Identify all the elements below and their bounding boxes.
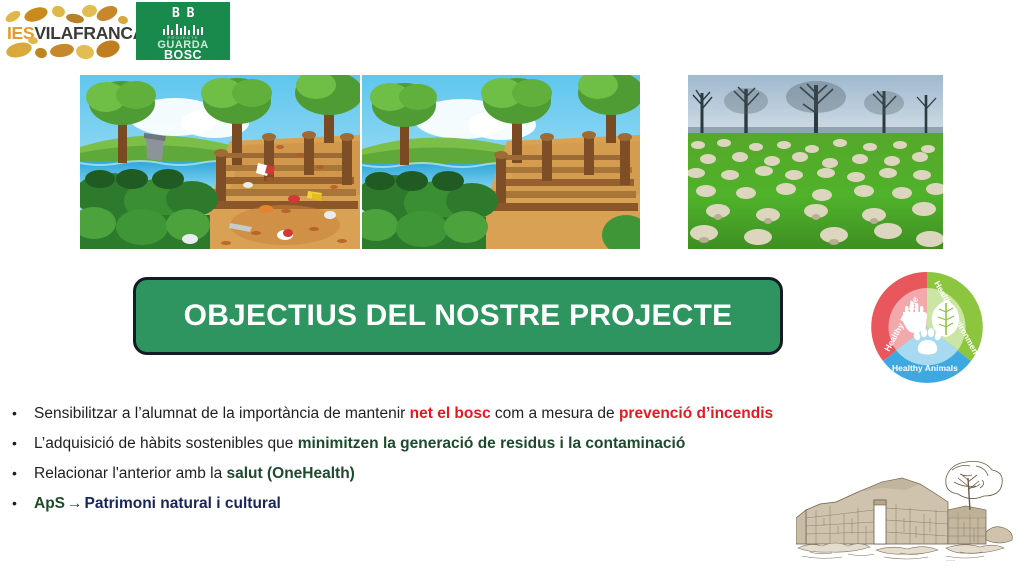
arrow-icon: →	[65, 495, 85, 512]
ies-logo-name: VILAFRANCA	[34, 23, 145, 43]
logo-seed-decoration	[23, 5, 50, 25]
page-title: OBJECTIUS DEL NOSTRE PROJECTE	[184, 299, 733, 333]
bullet-text: Relacionar l'anterior amb la salut (OneH…	[34, 459, 355, 489]
bullet-segment-highlight: salut (OneHealth)	[227, 465, 355, 482]
slide-title-banner: OBJECTIUS DEL NOSTRE PROJECTE	[133, 277, 783, 355]
bullet-segment: L’adquisició de hàbits sostenibles que	[34, 435, 298, 452]
list-item: • Sensibilitzar a l’alumnat de la import…	[12, 398, 842, 428]
bullet-marker: •	[12, 428, 34, 458]
bullet-segment: com a mesura de	[491, 405, 619, 422]
bullet-segment-highlight: minimitzen la generació de residus i la …	[298, 435, 686, 452]
logo-seed-decoration	[34, 46, 49, 59]
logo-seed-decoration	[49, 42, 75, 58]
bullet-segment-highlight: prevenció d’incendis	[619, 405, 773, 422]
bullet-segment-highlight: net el bosc	[410, 405, 491, 422]
bullet-text: L’adquisició de hàbits sostenibles que m…	[34, 429, 685, 459]
guarda-bosc-monogram: B B	[136, 7, 230, 20]
photo-forest-path-clean	[362, 75, 640, 249]
bullet-marker: •	[12, 488, 34, 518]
photo-sheep-grazing	[688, 75, 943, 249]
bullet-marker: •	[12, 398, 34, 428]
guarda-bosc-name-line2: BOSC	[136, 48, 230, 60]
guarda-bosc-logo: B B PROJECTE GUARDA BOSC	[136, 2, 230, 60]
ies-vilafranca-logo: IESVILAFRANCA	[4, 4, 132, 60]
bullet-segment: Sensibilitzar a l’alumnat de la importàn…	[34, 405, 410, 422]
onehealth-logo: Healthy People Healthy Environment	[862, 268, 992, 386]
dry-stone-hut-sketch: ~~~~	[796, 452, 1022, 574]
bullet-segment-highlight: Patrimoni natural i cultural	[85, 495, 281, 512]
objectives-bullet-list: • Sensibilitzar a l’alumnat de la import…	[12, 398, 842, 518]
bullet-text: ApS→Patrimoni natural i cultural	[34, 489, 281, 519]
logo-seed-decoration	[94, 3, 119, 24]
guarda-bosc-monogram-top: B B	[172, 6, 194, 21]
logo-seed-decoration	[75, 43, 96, 60]
guarda-bosc-bars-decoration	[163, 24, 203, 35]
bullet-segment-highlight: ApS	[34, 495, 65, 512]
svg-text:~~~~: ~~~~	[946, 558, 956, 563]
list-item: • ApS→Patrimoni natural i cultural	[12, 488, 842, 518]
bullet-segment: Relacionar l'anterior amb la	[34, 465, 227, 482]
photo-forest-path-littered	[80, 75, 360, 249]
logo-seed-decoration	[51, 4, 67, 19]
onehealth-label-animals: Healthy Animals	[892, 363, 958, 373]
bullet-text: Sensibilitzar a l’alumnat de la importàn…	[34, 399, 773, 429]
list-item: • L’adquisició de hàbits sostenibles que…	[12, 428, 842, 458]
bullet-marker: •	[12, 458, 34, 488]
list-item: • Relacionar l'anterior amb la salut (On…	[12, 458, 842, 488]
